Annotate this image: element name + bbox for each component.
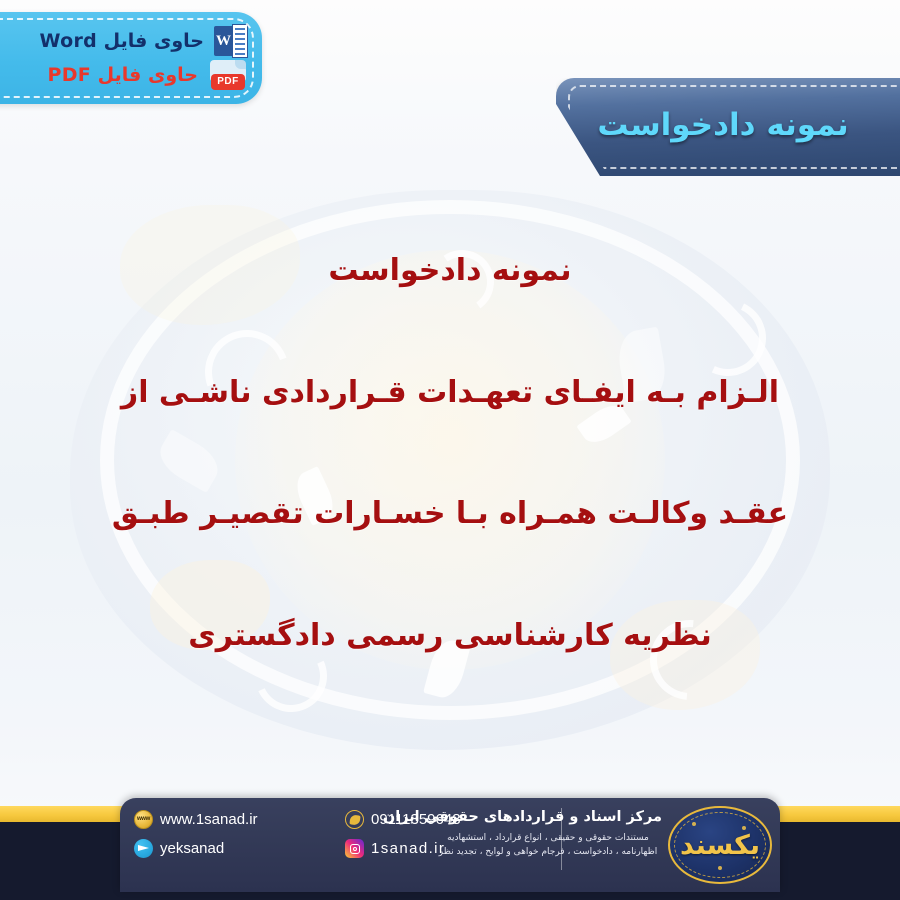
- contact-website[interactable]: www.1sanad.ir: [134, 810, 337, 829]
- pdf-file-row: PDF حاوی فایل PDF: [47, 60, 248, 90]
- phone-icon: [345, 810, 364, 829]
- poster-canvas: W حاوی فایل Word PDF حاوی فایل PDF نمونه…: [0, 0, 900, 900]
- word-file-label: حاوی فایل Word: [40, 30, 204, 52]
- organization-services-line-1: مستندات حقوقی و حقیقی ، انواع قرارداد ، …: [434, 832, 662, 846]
- word-icon-page: [232, 24, 248, 58]
- word-icon-letter: W: [214, 26, 233, 56]
- word-file-icon: W: [214, 24, 248, 58]
- word-file-row: W حاوی فایل Word: [40, 24, 248, 58]
- telegram-icon: [134, 839, 153, 858]
- main-title-line-4: نظریه کارشناسی رسمی دادگستری: [0, 617, 900, 655]
- brand-logo-dot: [692, 822, 696, 826]
- footer-panel: www.1sanad.ir 09111359648 yeksanad 1sana…: [120, 798, 780, 892]
- brand-logo-dot: [742, 826, 746, 830]
- pdf-icon-tag: PDF: [211, 74, 245, 90]
- header-banner-title: نمونه دادخواست: [556, 78, 900, 176]
- brand-logo-text: یکسند: [668, 806, 772, 884]
- contact-website-value: www.1sanad.ir: [160, 811, 258, 828]
- organization-name: مرکز اسناد و قراردادهای حقوقی ایران: [434, 809, 662, 825]
- pdf-file-label: حاوی فایل PDF: [47, 64, 198, 86]
- organization-block: مرکز اسناد و قراردادهای حقوقی ایران مستن…: [434, 809, 662, 860]
- organization-services-line-2: اظهارنامه ، دادخواست ، فرجام خواهی و لوا…: [434, 846, 662, 860]
- instagram-icon: [345, 839, 364, 858]
- globe-icon: [134, 810, 153, 829]
- main-title-block: نمونه دادخواست الـزام بـه ایفـای تعهـدات…: [0, 252, 900, 654]
- main-title-line-1: نمونه دادخواست: [0, 252, 900, 290]
- pdf-file-icon: PDF: [208, 60, 248, 90]
- contact-telegram-value: yeksanad: [160, 840, 224, 857]
- brand-logo-dot: [718, 866, 722, 870]
- contact-telegram[interactable]: yeksanad: [134, 839, 337, 858]
- brand-logo-icon: یکسند: [668, 806, 772, 884]
- header-banner: نمونه دادخواست: [556, 78, 900, 176]
- file-format-badge: W حاوی فایل Word PDF حاوی فایل PDF: [0, 12, 262, 104]
- main-title-line-3: عقـد وکالـت همـراه بـا خسـارات تقصیـر طب…: [0, 495, 900, 533]
- main-title-line-2: الـزام بـه ایفـای تعهـدات قـراردادی ناشـ…: [0, 374, 900, 412]
